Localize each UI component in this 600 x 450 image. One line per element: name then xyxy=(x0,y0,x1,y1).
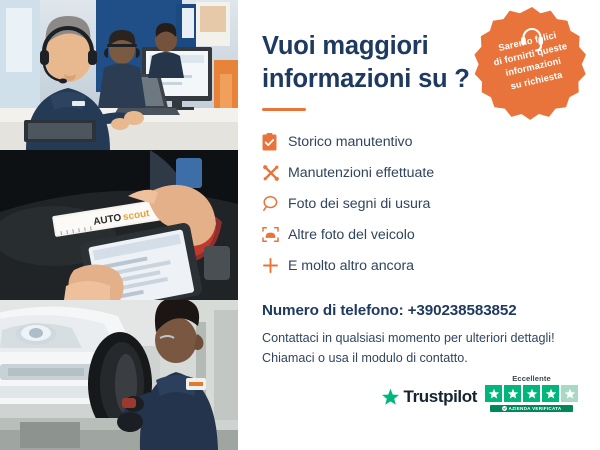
verified-company-badge: AZIENDA VERIFICATA xyxy=(490,405,573,412)
mechanic-wheel-photo xyxy=(0,300,238,450)
headline-line-2: informazioni su ? xyxy=(262,65,470,93)
feature-list: Storico manutentivo Manutenzi xyxy=(262,127,578,280)
content-panel: Saremo felici di fornirti queste informa… xyxy=(238,0,600,450)
star-filled xyxy=(523,385,540,402)
star-filled xyxy=(485,385,502,402)
star-filled xyxy=(542,385,559,402)
list-item: E molto altro ancora xyxy=(262,251,578,280)
contact-instructions: Contattaci in qualsiasi momento per ulte… xyxy=(262,328,578,368)
trustpilot-score: Eccellente xyxy=(485,374,578,412)
tools-cross-icon xyxy=(262,162,288,184)
trustpilot-rating[interactable]: Trustpilot Eccellente xyxy=(381,374,578,412)
trustpilot-logo: Trustpilot xyxy=(381,387,477,412)
headline-line-1: Vuoi maggiori xyxy=(262,32,428,60)
phone-number-line: Numero di telefono: +390238583852 xyxy=(262,302,578,319)
list-item: Storico manutentivo xyxy=(262,127,578,156)
contact-line-1: Contattaci in qualsiasi momento per ulte… xyxy=(262,328,578,348)
list-item-label: Manutenzioni effettuate xyxy=(288,165,434,181)
vehicle-inspection-photo: AUTO scout xyxy=(0,150,238,300)
list-item-label: Foto dei segni di usura xyxy=(288,196,430,212)
promo-card: AUTO scout xyxy=(0,0,600,450)
list-item-label: Storico manutentivo xyxy=(288,134,412,150)
page-title: Vuoi maggiori informazioni su ? xyxy=(262,30,492,95)
list-item-label: Altre foto del veicolo xyxy=(288,227,415,243)
headline-divider xyxy=(262,108,306,111)
list-item: Foto dei segni di usura xyxy=(262,189,578,218)
plus-icon xyxy=(262,255,288,277)
trustpilot-wordmark: Trustpilot xyxy=(404,387,477,407)
magnifier-icon xyxy=(262,193,288,215)
check-circle-icon xyxy=(502,406,507,411)
photo-column: AUTO scout xyxy=(0,0,238,450)
star-filled xyxy=(504,385,521,402)
verified-label: AZIENDA VERIFICATA xyxy=(509,406,562,411)
list-item-label: E molto altro ancora xyxy=(288,258,414,274)
car-scan-icon xyxy=(262,224,288,246)
star-partial xyxy=(561,385,578,402)
call-center-agents-photo xyxy=(0,0,238,150)
clipboard-check-icon xyxy=(262,131,288,153)
contact-line-2: Chiamaci o usa il modulo di contatto. xyxy=(262,348,578,368)
rating-label: Eccellente xyxy=(512,374,551,383)
starburst-shape xyxy=(473,5,591,123)
list-item: Manutenzioni effettuate xyxy=(262,158,578,187)
list-item: Altre foto del veicolo xyxy=(262,220,578,249)
trustpilot-star-icon xyxy=(381,388,400,407)
star-rating xyxy=(485,385,578,402)
callout-badge: Saremo felici di fornirti queste informa… xyxy=(473,5,591,123)
